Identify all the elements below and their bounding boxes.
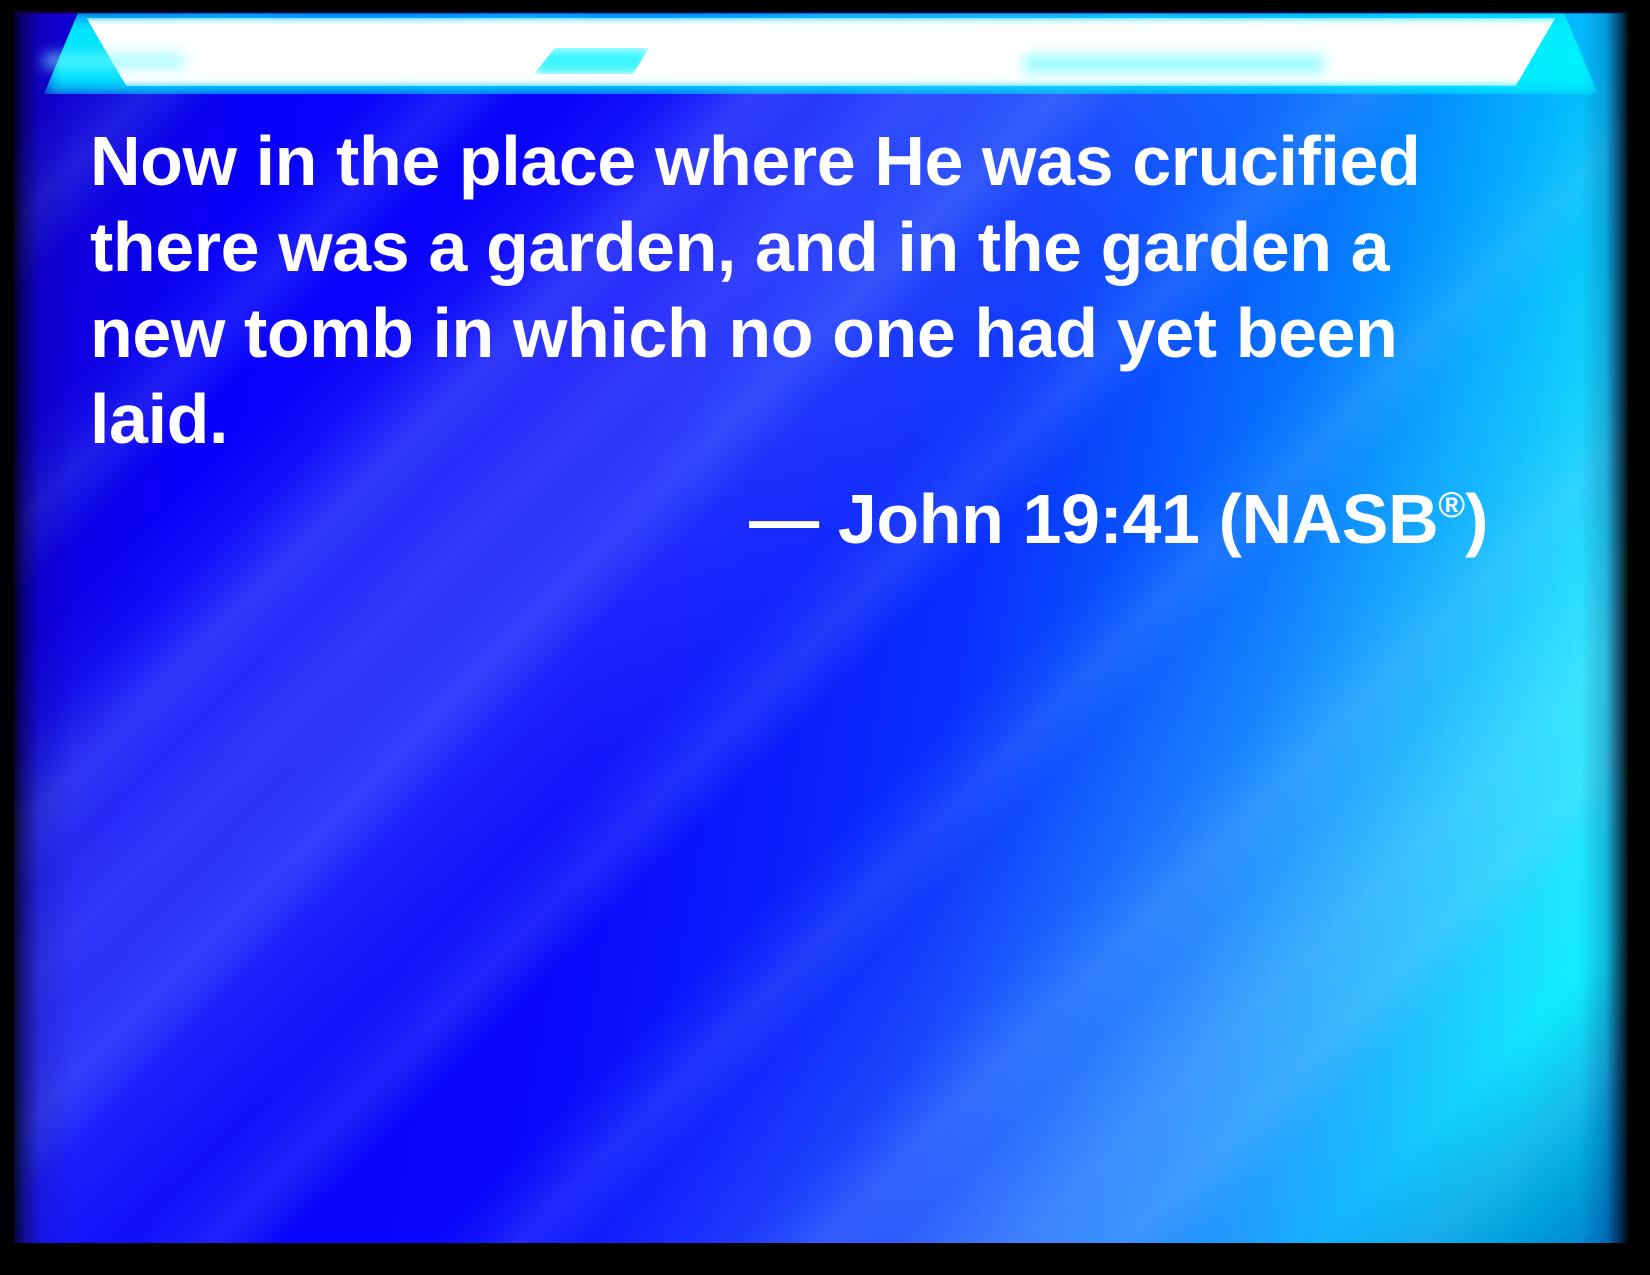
verse-slide: Now in the place where He was crucified … xyxy=(0,0,1650,1275)
verse-attribution: — John 19:41 (NASB®) xyxy=(90,462,1510,562)
registered-trademark-icon: ® xyxy=(1438,484,1465,525)
verse-text: Now in the place where He was crucified … xyxy=(90,118,1490,462)
attribution-spacer xyxy=(819,480,838,558)
attribution-reference: John 19:41 xyxy=(838,480,1200,558)
attribution-version-open: (NASB xyxy=(1200,480,1439,558)
slide-artwork-area: Now in the place where He was crucified … xyxy=(14,10,1628,1243)
attribution-dash: — xyxy=(749,480,819,558)
text-layer: Now in the place where He was crucified … xyxy=(14,10,1628,1243)
attribution-version-close: ) xyxy=(1465,480,1488,558)
